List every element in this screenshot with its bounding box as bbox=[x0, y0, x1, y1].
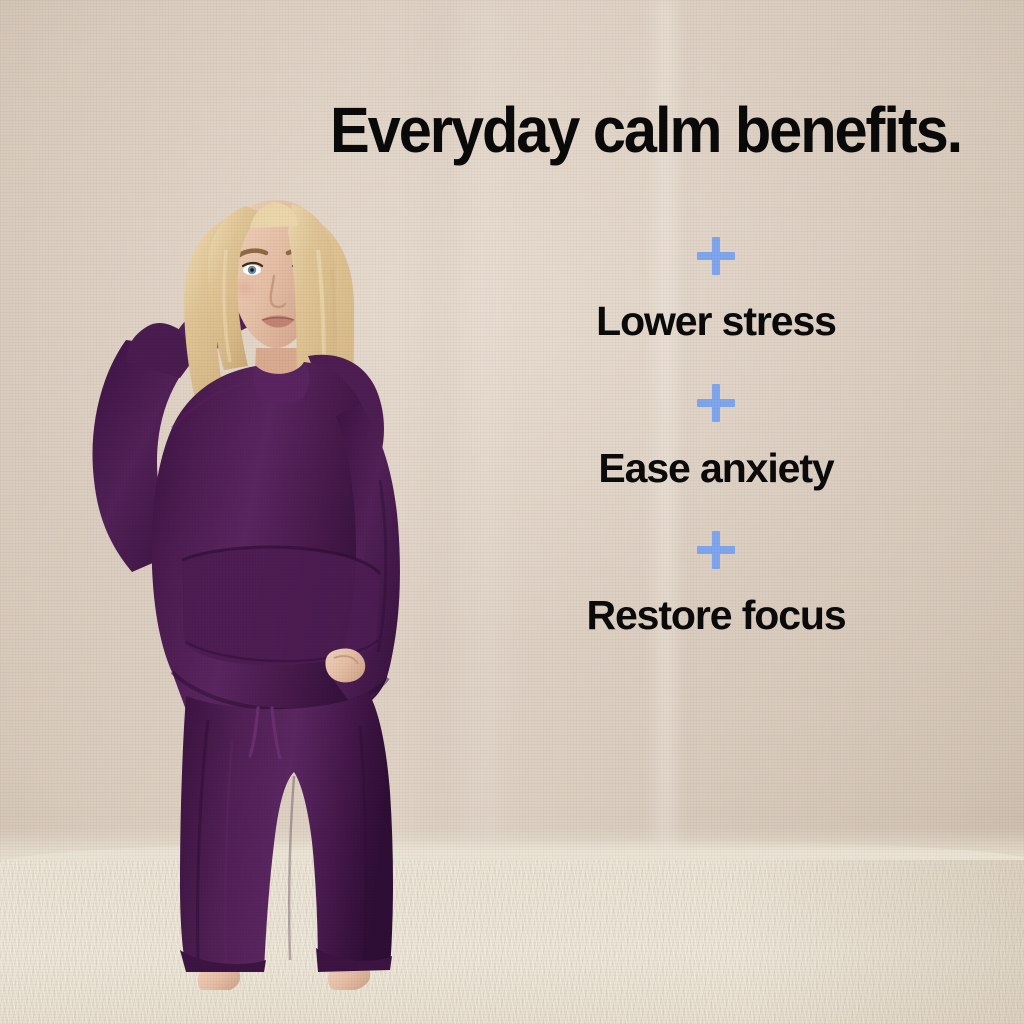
plus-icon bbox=[696, 236, 736, 276]
benefits-list: Lower stress Ease anxiety Restore focus bbox=[520, 236, 912, 639]
list-item: Lower stress bbox=[520, 236, 912, 345]
list-item: Ease anxiety bbox=[520, 383, 912, 492]
plus-icon bbox=[696, 383, 736, 423]
rug-shadow-right bbox=[614, 860, 1024, 1024]
benefit-label: Restore focus bbox=[586, 592, 845, 639]
benefit-label: Ease anxiety bbox=[598, 445, 833, 492]
list-item: Restore focus bbox=[520, 530, 912, 639]
ad-canvas: Everyday calm benefits. Lower stress Eas… bbox=[0, 0, 1024, 1024]
page-title: Everyday calm benefits. bbox=[330, 98, 948, 163]
plus-icon bbox=[696, 530, 736, 570]
benefit-label: Lower stress bbox=[596, 298, 836, 345]
model-hoodie-pocket bbox=[182, 547, 380, 665]
model-figure bbox=[60, 180, 440, 990]
model-hand-in-pocket bbox=[325, 648, 365, 682]
